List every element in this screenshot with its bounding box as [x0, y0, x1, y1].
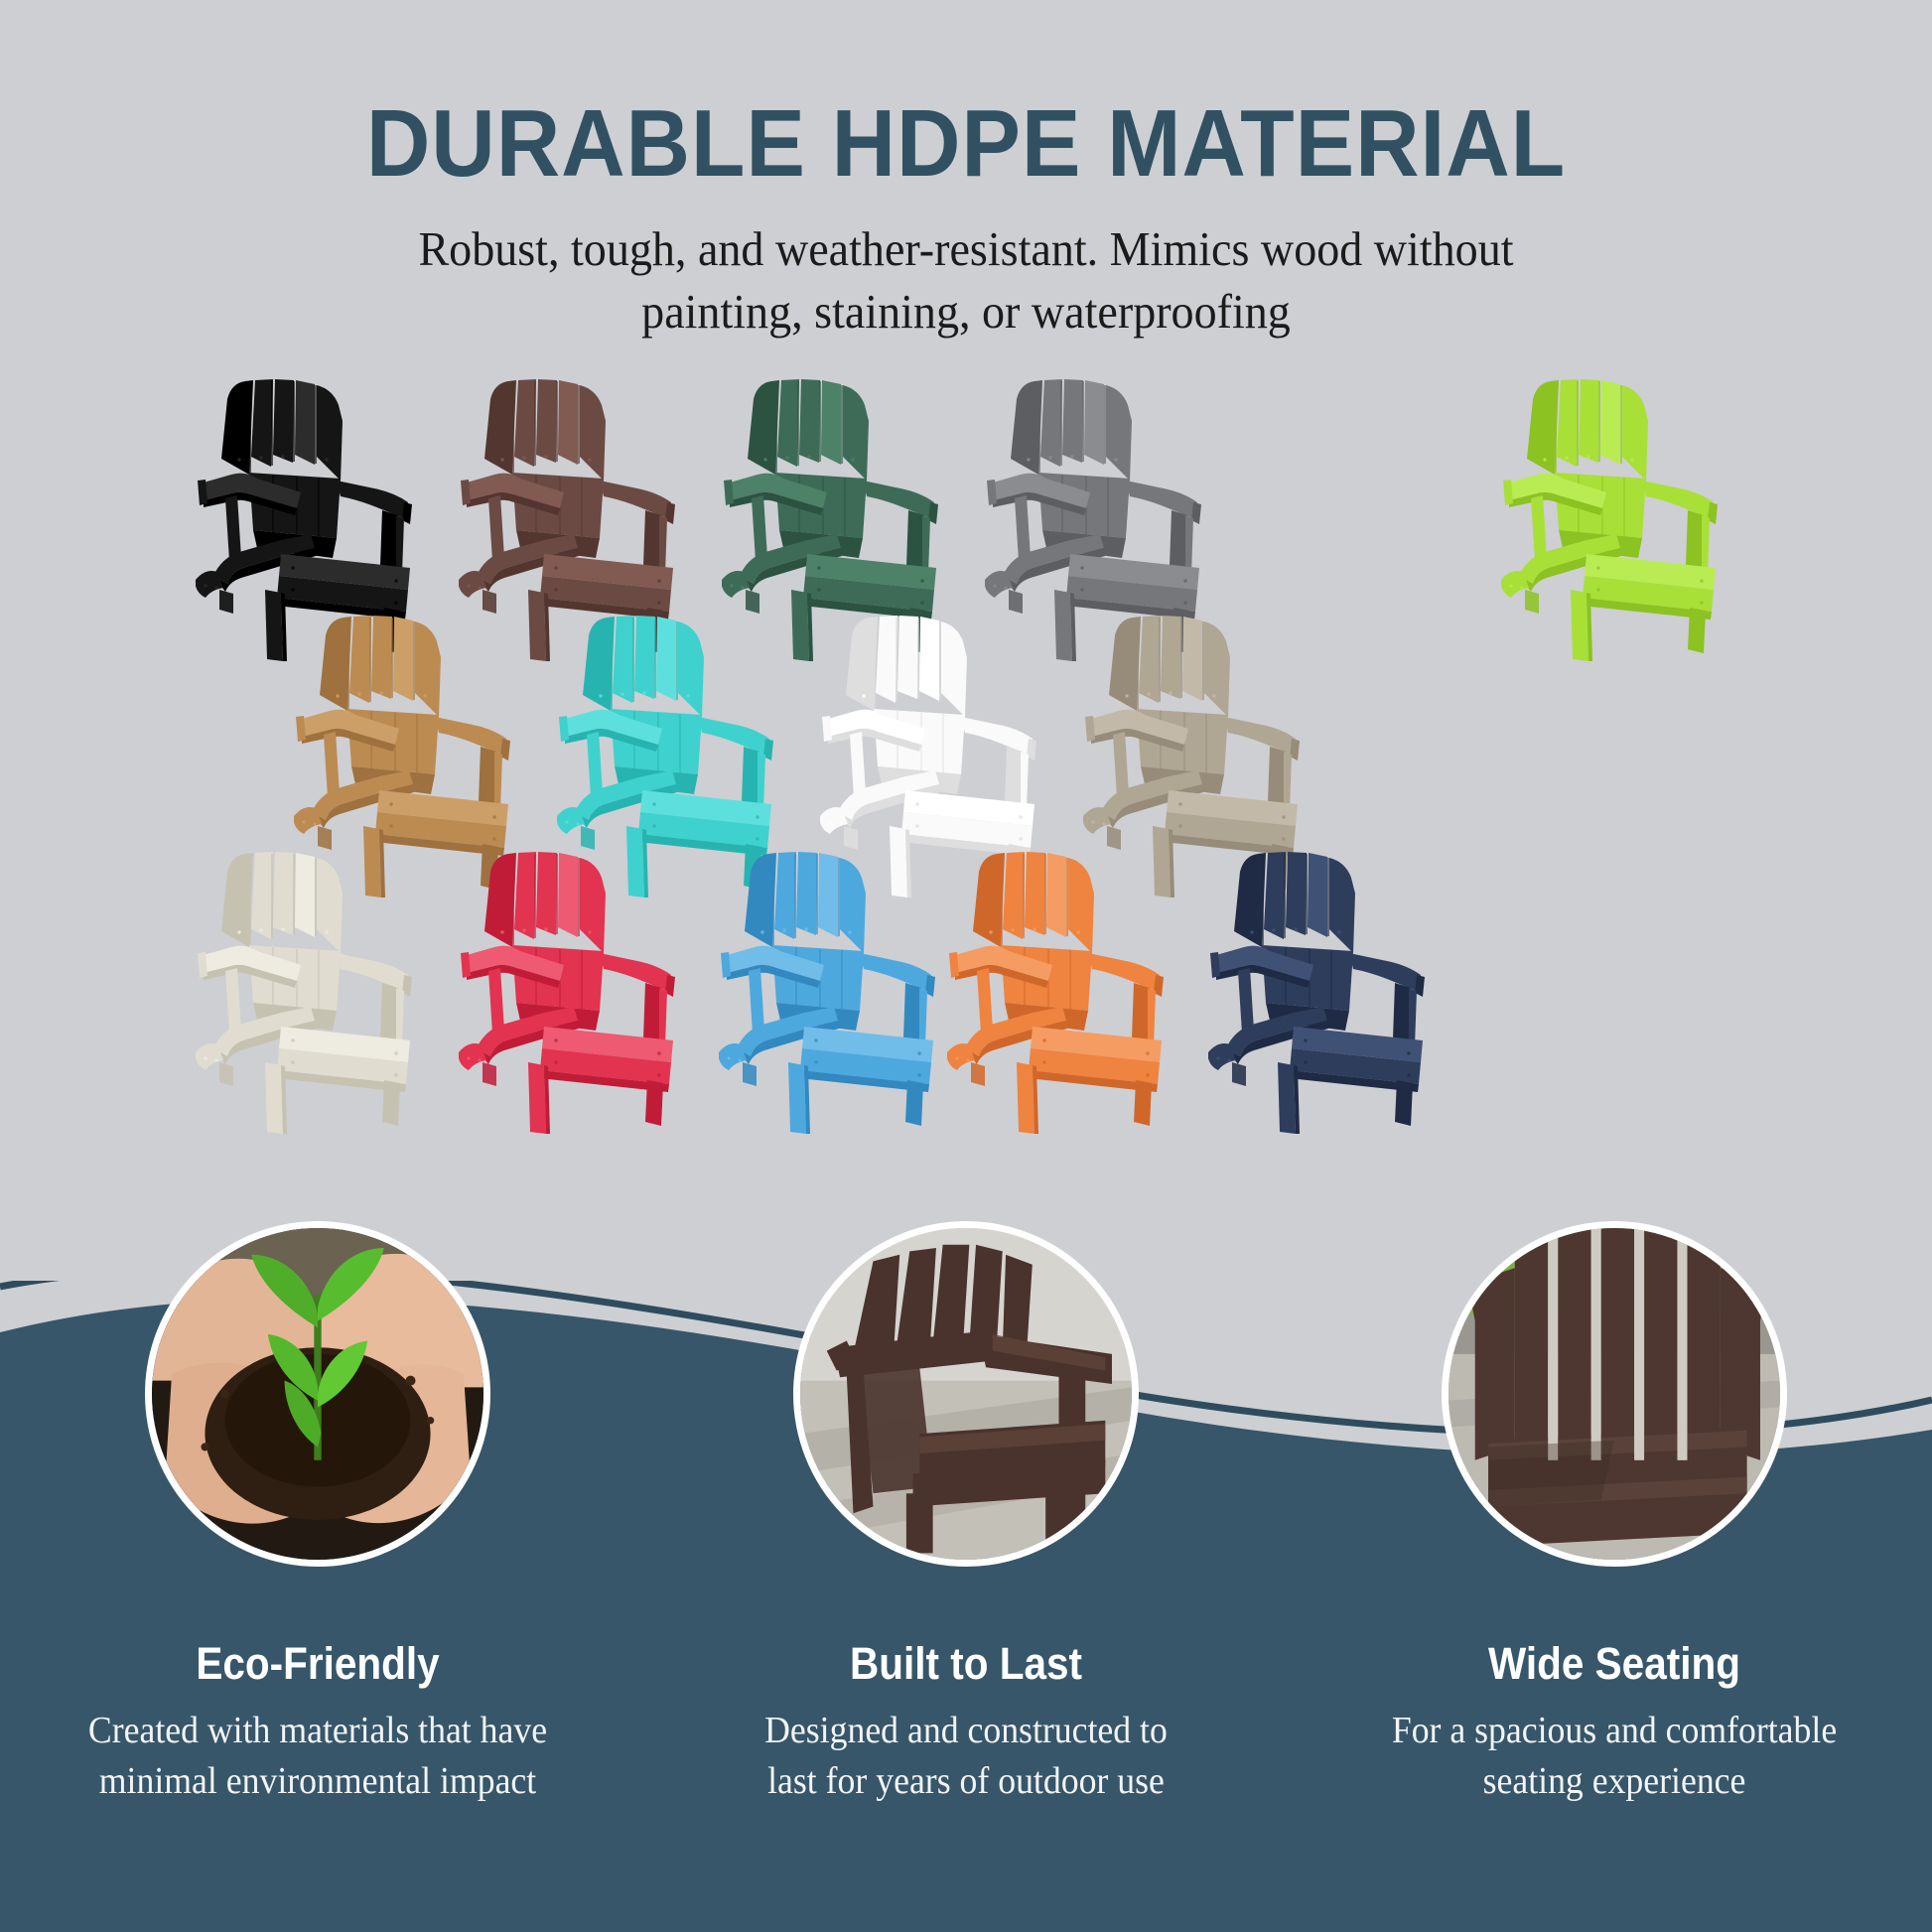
chair-row-3 — [0, 836, 1932, 1072]
feature-title-wide-seating: Wide Seating — [1382, 1638, 1847, 1690]
feature-desc-built-to-last: Designed and constructed to last for yea… — [724, 1706, 1209, 1806]
infographic-canvas: DURABLE HDPE MATERIAL Robust, tough, and… — [0, 0, 1932, 1932]
feature-image-eco-friendly — [145, 1221, 490, 1567]
chair-row-2 — [0, 600, 1932, 836]
feature-desc-eco-friendly: Created with materials that have minimal… — [75, 1706, 561, 1806]
chair-navy[interactable] — [1174, 836, 1445, 1134]
chair-ivory[interactable] — [162, 836, 432, 1134]
subtitle-line-1: Robust, tough, and weather-resistant. Mi… — [418, 221, 1513, 276]
feature-desc-wide-seating: For a spacious and comfortable seating e… — [1372, 1706, 1858, 1806]
chair-color-grid — [0, 363, 1932, 1072]
feature-caption-eco-friendly: Eco-Friendly Created with materials that… — [60, 1638, 576, 1806]
page-title: DURABLE HDPE MATERIAL — [68, 0, 1864, 193]
feature-title-eco-friendly: Eco-Friendly — [85, 1638, 550, 1690]
page-subtitle: Robust, tough, and weather-resistant. Mi… — [299, 218, 1633, 343]
feature-image-built-to-last — [793, 1221, 1139, 1567]
chair-red[interactable] — [425, 836, 695, 1134]
feature-caption-wide-seating: Wide Seating For a spacious and comforta… — [1356, 1638, 1872, 1806]
header: DURABLE HDPE MATERIAL Robust, tough, and… — [0, 0, 1932, 343]
feature-title-built-to-last: Built to Last — [734, 1638, 1198, 1690]
chair-orange[interactable] — [913, 836, 1183, 1134]
subtitle-line-2: painting, staining, or waterproofing — [641, 284, 1291, 339]
feature-caption-built-to-last: Built to Last Designed and constructed t… — [708, 1638, 1224, 1806]
chair-row-1 — [0, 363, 1932, 600]
feature-image-wide-seating — [1442, 1221, 1787, 1567]
